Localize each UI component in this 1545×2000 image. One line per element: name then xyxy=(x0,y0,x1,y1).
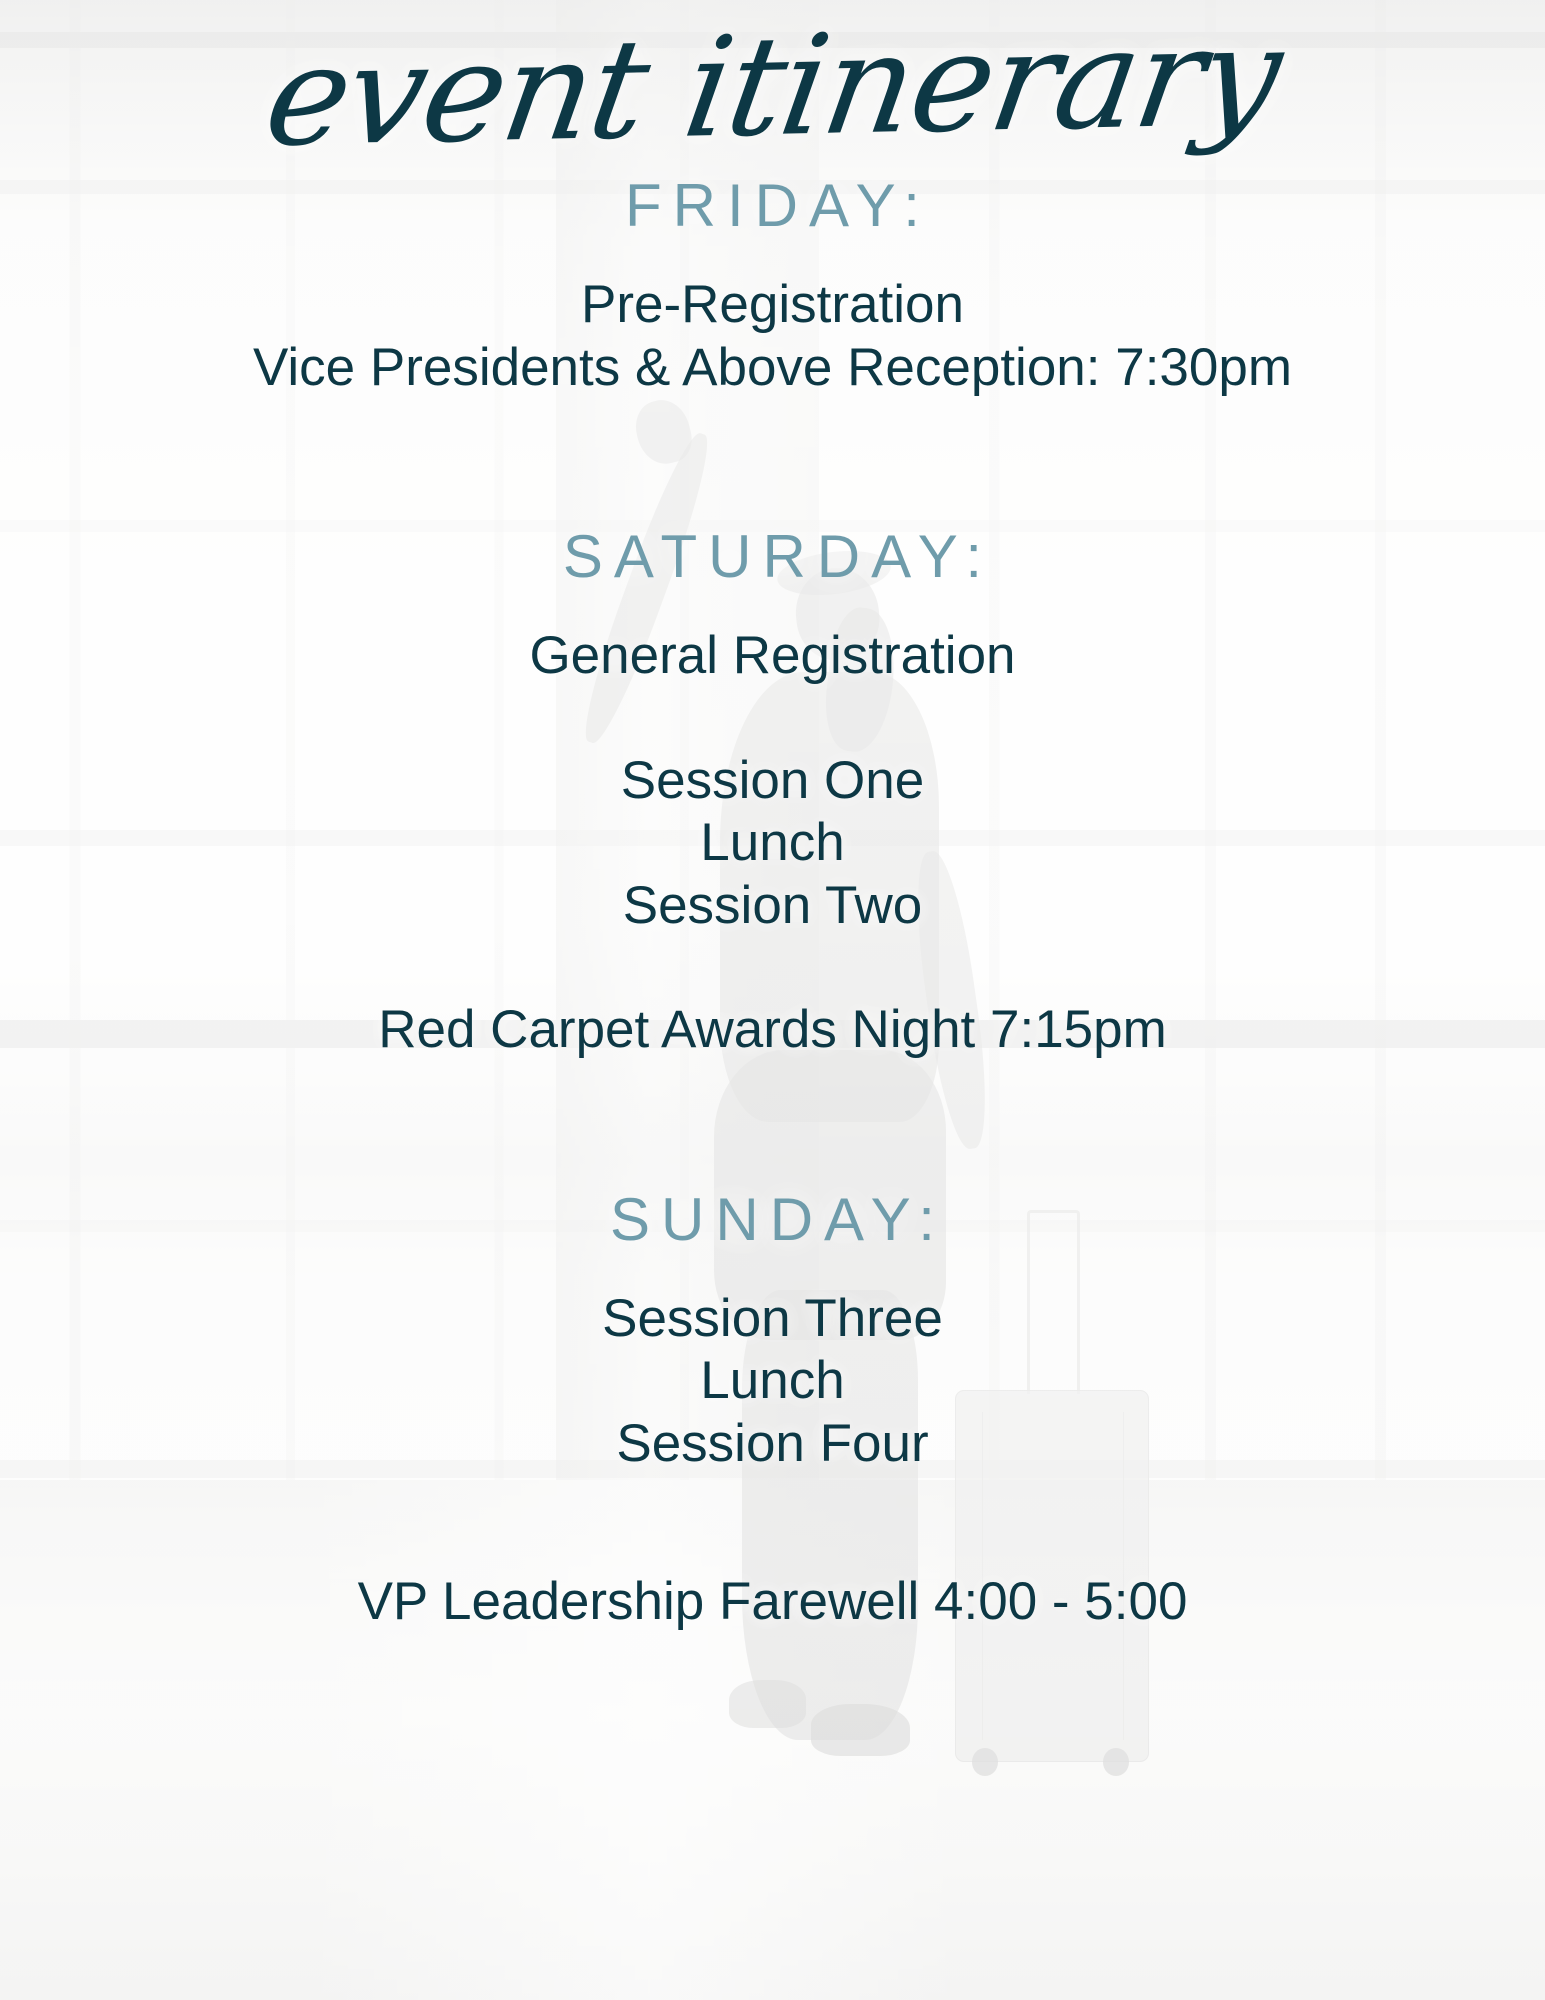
event-itinerary-poster: event itinerary FRIDAY: Pre-Registration… xyxy=(0,0,1545,2000)
event-line-sunday-vp-farewell: VP Leadership Farewell 4:00 - 5:00 xyxy=(358,1571,1188,1634)
event-line-sunday-session-four: Session Four xyxy=(616,1413,928,1476)
itinerary-content: event itinerary FRIDAY: Pre-Registration… xyxy=(0,0,1545,2000)
event-line-saturday-session-one: Session One xyxy=(621,750,924,813)
event-line-friday-pre-registration: Pre-Registration xyxy=(581,274,964,337)
event-line-saturday-red-carpet: Red Carpet Awards Night 7:15pm xyxy=(378,999,1167,1062)
event-line-saturday-general-registration: General Registration xyxy=(529,625,1015,688)
event-line-saturday-session-two: Session Two xyxy=(623,875,923,938)
event-line-friday-vp-reception: Vice Presidents & Above Reception: 7:30p… xyxy=(253,337,1292,400)
event-line-sunday-lunch: Lunch xyxy=(700,1350,844,1413)
page-title: event itinerary xyxy=(257,7,1288,166)
day-heading-friday: FRIDAY: xyxy=(614,176,931,236)
event-line-saturday-lunch: Lunch xyxy=(700,812,844,875)
event-line-sunday-session-three: Session Three xyxy=(602,1288,943,1351)
day-heading-saturday: SATURDAY: xyxy=(552,527,993,587)
day-heading-sunday: SUNDAY: xyxy=(599,1190,946,1250)
